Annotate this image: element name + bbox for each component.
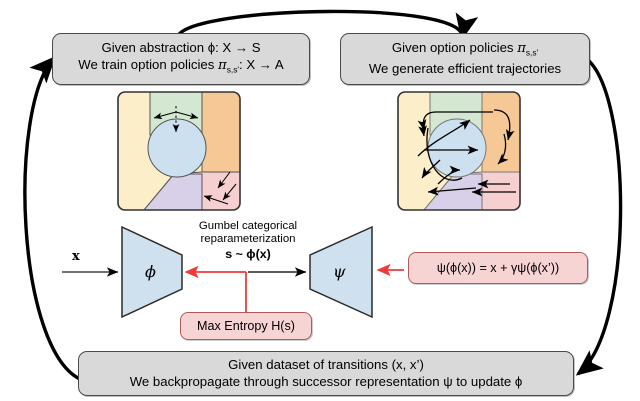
gumbel-caption-line-1: Gumbel categorical xyxy=(199,220,297,232)
process-box-abstraction[interactable]: Given abstraction ϕ: X → S We train opti… xyxy=(52,33,310,85)
pi-symbol: π xyxy=(218,58,227,73)
abstraction-line-1: Given abstraction ϕ: X → S xyxy=(101,40,260,57)
abstraction-line-2: We train option policies πs,s': X → A xyxy=(78,57,283,78)
successor-equation-text: ψ(ϕ(x)) = x + γψ(ϕ(x’)) xyxy=(437,261,559,275)
abstraction-line-2-post: : X → A xyxy=(239,57,284,72)
trajectories-line-1-pre: Given option policies xyxy=(392,40,517,55)
pi-subscript-right: s,s' xyxy=(526,48,538,58)
pi-subscript: s,s' xyxy=(227,64,239,74)
encoder-label: ϕ xyxy=(145,262,156,281)
process-box-backprop[interactable]: Given dataset of transitions (x, x’) We … xyxy=(78,351,574,396)
trajectories-line-2: We generate efficient trajectories xyxy=(369,61,561,78)
process-box-trajectories[interactable]: Given option policies πs,s' We generate … xyxy=(340,33,590,85)
abstraction-line-2-pre: We train option policies xyxy=(78,57,218,72)
trajectories-line-1: Given option policies πs,s' xyxy=(392,40,538,61)
backprop-line-2: We backpropagate through successor repre… xyxy=(130,374,523,391)
gumbel-caption: Gumbel categorical reparameterization s … xyxy=(182,220,314,261)
max-entropy-text: Max Entropy H(s) xyxy=(197,319,295,333)
successor-equation-box[interactable]: ψ(ϕ(x)) = x + γψ(ϕ(x’)) xyxy=(408,252,588,284)
backprop-line-1: Given dataset of transitions (x, x’) xyxy=(228,357,424,374)
gumbel-sample-expression: s ~ ϕ(x) xyxy=(182,248,314,261)
diagram-canvas: Given abstraction ϕ: X → S We train opti… xyxy=(0,0,640,401)
pi-symbol-right: π xyxy=(517,41,526,56)
decoder-label: ψ xyxy=(333,262,346,281)
input-label-x: x xyxy=(72,249,80,264)
max-entropy-box[interactable]: Max Entropy H(s) xyxy=(180,312,312,340)
gumbel-caption-line-2: reparameterization xyxy=(201,233,296,245)
